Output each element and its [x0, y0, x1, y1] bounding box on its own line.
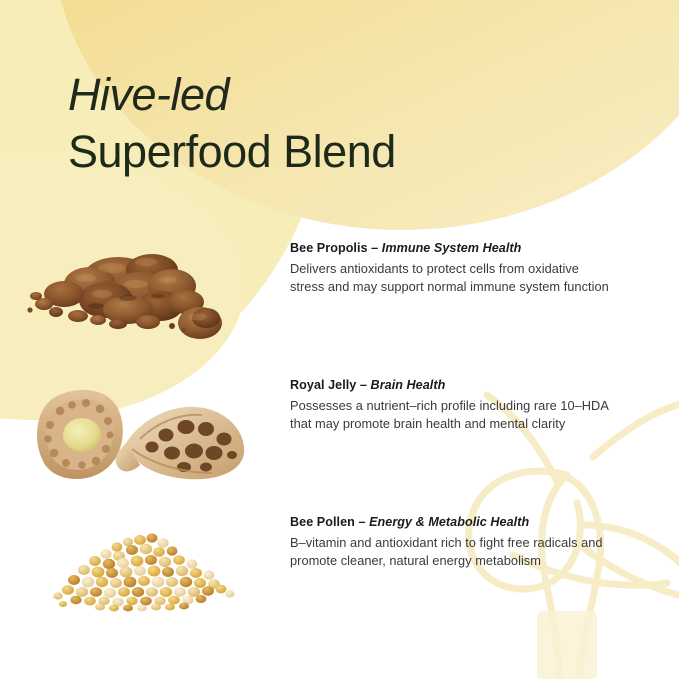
- ingredient-row-bee-pollen: Bee Pollen – Energy & Metabolic Health B…: [0, 514, 679, 651]
- bee-pollen-heading: Bee Pollen – Energy & Metabolic Health: [290, 514, 643, 531]
- ingredient-row-royal-jelly: Royal Jelly – Brain Health Possesses a n…: [0, 377, 679, 514]
- ingredient-name: Bee Propolis: [290, 241, 368, 255]
- bee-pollen-text: Bee Pollen – Energy & Metabolic Health B…: [290, 514, 679, 570]
- ingredient-separator: –: [360, 378, 367, 392]
- bee-pollen-image: [0, 514, 290, 634]
- bee-pollen-description: B–vitamin and antioxidant rich to fight …: [290, 534, 612, 570]
- ingredient-name: Bee Pollen: [290, 515, 355, 529]
- ingredient-list: Bee Propolis – Immune System Health Deli…: [0, 240, 679, 651]
- royal-jelly-description: Possesses a nutrient–rich profile includ…: [290, 397, 612, 433]
- royal-jelly-text: Royal Jelly – Brain Health Possesses a n…: [290, 377, 679, 433]
- ingredient-separator: –: [358, 515, 365, 529]
- bee-propolis-image: [0, 240, 290, 360]
- royal-jelly-image: [0, 377, 290, 497]
- ingredient-row-bee-propolis: Bee Propolis – Immune System Health Deli…: [0, 240, 679, 377]
- title-line-one: Hive-led: [68, 72, 396, 117]
- ingredient-benefit: Energy & Metabolic Health: [369, 515, 529, 529]
- ingredient-name: Royal Jelly: [290, 378, 356, 392]
- page-title-block: Hive-led Superfood Blend: [68, 72, 396, 174]
- ingredient-benefit: Immune System Health: [382, 241, 522, 255]
- royal-jelly-heading: Royal Jelly – Brain Health: [290, 377, 643, 394]
- bee-propolis-heading: Bee Propolis – Immune System Health: [290, 240, 643, 257]
- bee-propolis-text: Bee Propolis – Immune System Health Deli…: [290, 240, 679, 296]
- ingredient-benefit: Brain Health: [371, 378, 446, 392]
- title-line-two: Superfood Blend: [68, 129, 396, 174]
- ingredient-separator: –: [371, 241, 378, 255]
- bee-propolis-description: Delivers antioxidants to protect cells f…: [290, 260, 612, 296]
- superfood-blend-poster: Hive-led Superfood Blend: [0, 0, 679, 679]
